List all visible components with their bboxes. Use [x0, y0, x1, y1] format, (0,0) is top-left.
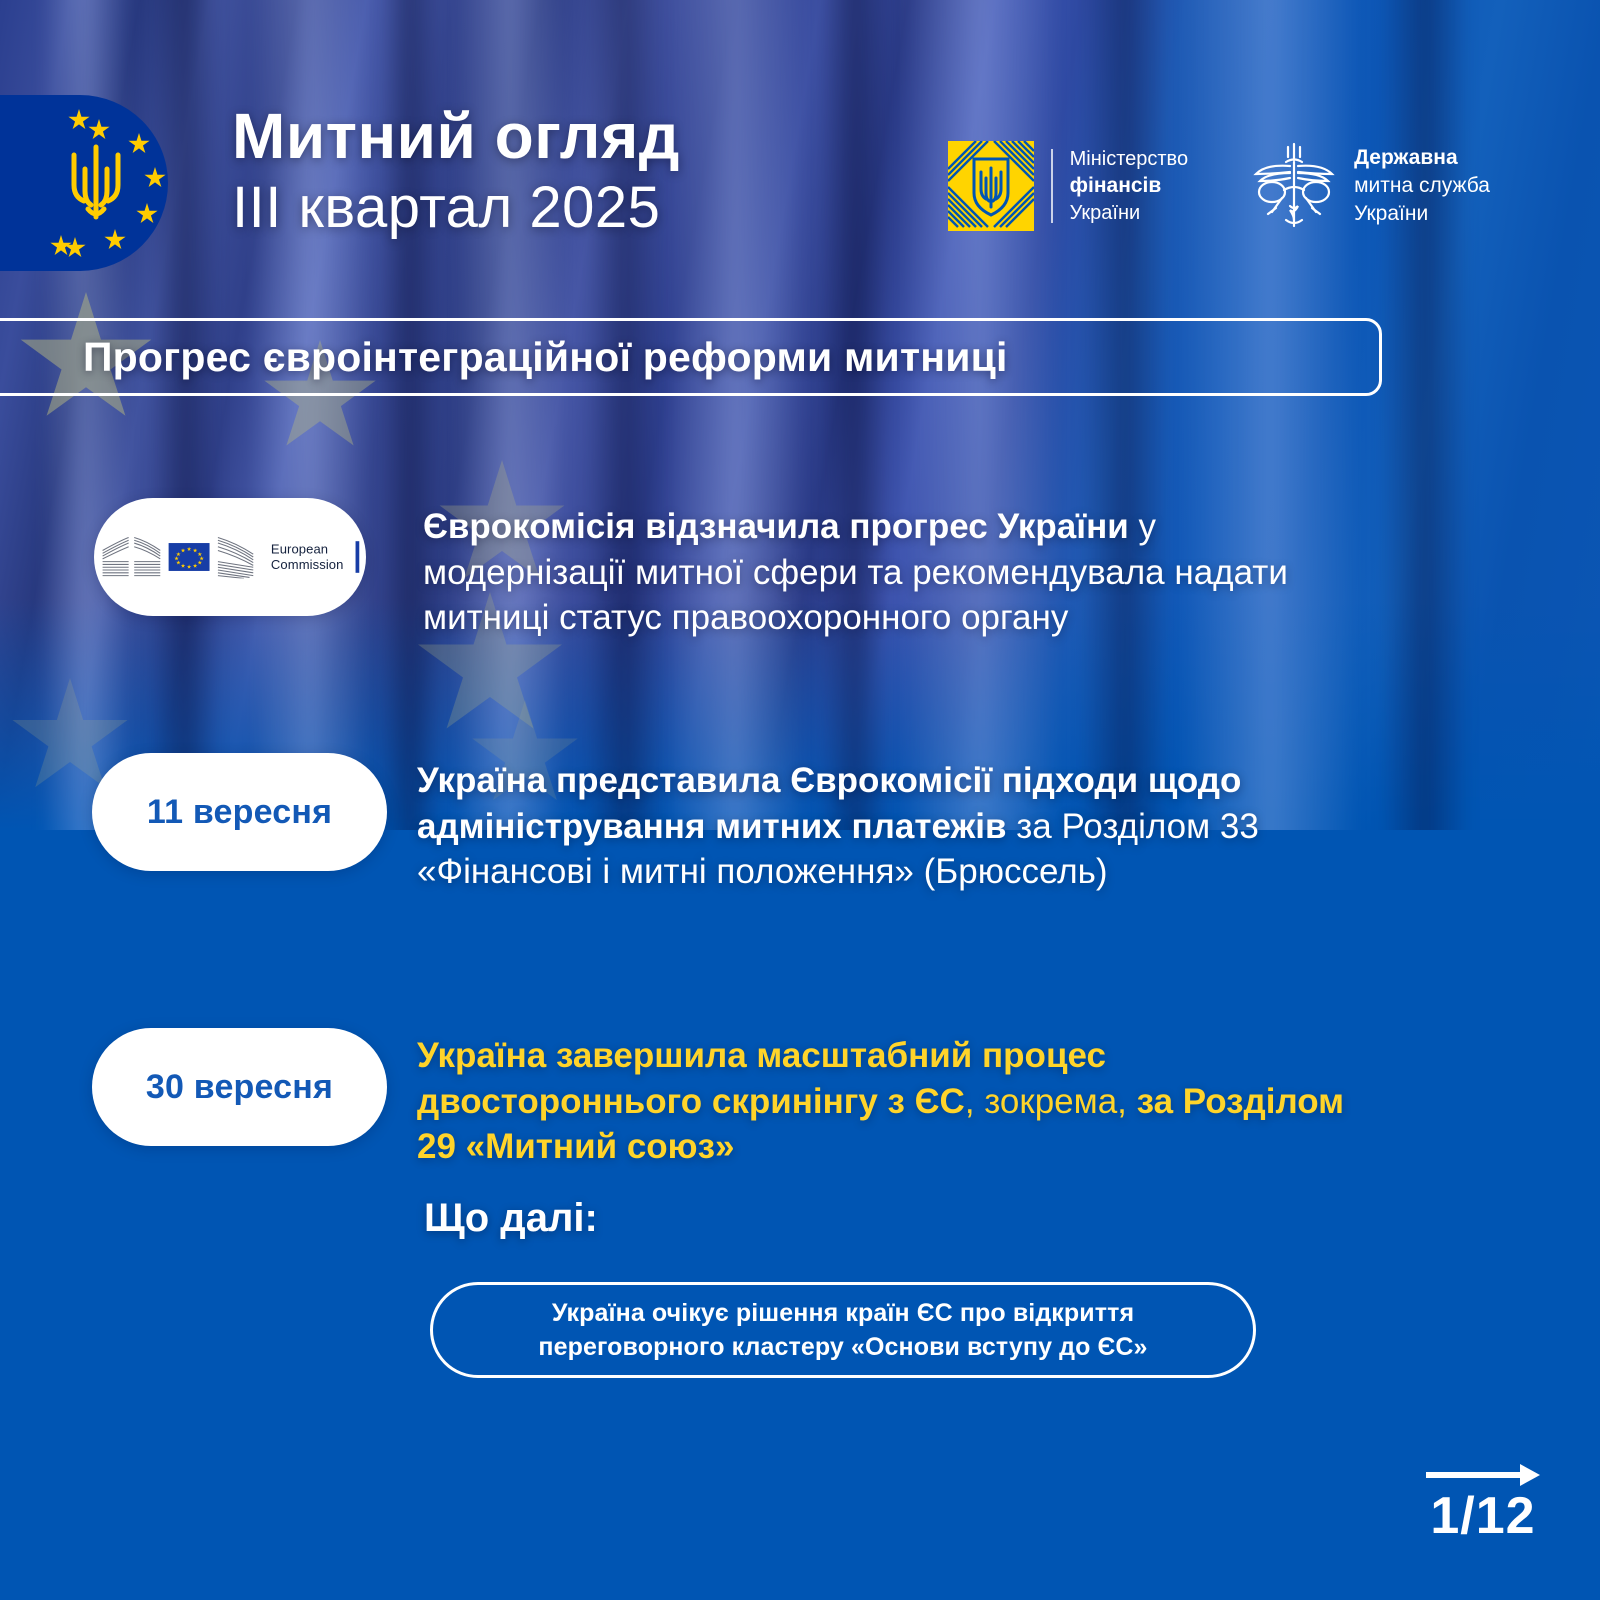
berlaymont-building-icon: [101, 536, 162, 579]
section-banner-label: Прогрес євроінтеграційної реформи митниц…: [83, 334, 1008, 381]
logo-divider: [1051, 149, 1053, 223]
date-badge: 30 вересня: [92, 1028, 387, 1146]
list-item: 30 вересня Україна завершила масштабний …: [92, 1028, 1412, 1170]
what-next-line-1: Україна очікує рішення країн ЄС про відк…: [538, 1296, 1147, 1330]
state-customs-service-label: Державна митна служба України: [1354, 144, 1490, 227]
date-badge: 11 вересня: [92, 753, 387, 871]
page-number: 1/12: [1424, 1490, 1542, 1542]
list-item: 11 вересня Україна представила Єврокоміс…: [92, 753, 1412, 895]
ec-word-line-1: European: [271, 541, 344, 557]
state-customs-service-emblem-icon: [1250, 140, 1338, 232]
ec-accent-bar: [356, 541, 360, 573]
section-banner: Прогрес євроінтеграційної реформи митниц…: [0, 318, 1382, 396]
ministry-of-finance-label: Міністерство фінансів України: [1070, 146, 1188, 225]
title-line-1: Митний огляд: [232, 104, 680, 168]
page-title: Митний огляд III квартал 2025: [232, 104, 680, 241]
european-commission-wordmark: European Commission: [271, 541, 344, 573]
title-line-2: III квартал 2025: [232, 176, 680, 241]
european-commission-logo: European Commission: [94, 498, 366, 616]
state-customs-service-logo: Державна митна служба України: [1250, 140, 1490, 232]
eu-flag-icon: [169, 543, 210, 571]
mof-line-3: України: [1070, 200, 1188, 226]
mof-line-2: фінансів: [1070, 174, 1162, 197]
list-item: European Commission Єврокомісія відзначи…: [94, 498, 1394, 641]
ec-word-line-2: Commission: [271, 557, 344, 573]
ministry-of-finance-logo: Міністерство фінансів України: [948, 141, 1188, 231]
what-next-box-text: Україна очікує рішення країн ЄС про відк…: [538, 1296, 1147, 1364]
list-item-text-rest: , зокрема,: [965, 1082, 1127, 1121]
ukraine-trident-icon: [64, 139, 128, 225]
cust-line-1: Державна: [1354, 146, 1458, 169]
list-item-text-bold: Єврокомісія відзначила прогрес України: [423, 507, 1129, 546]
list-item-text: Єврокомісія відзначила прогрес України у…: [423, 504, 1363, 641]
what-next-box: Україна очікує рішення країн ЄС про відк…: [430, 1282, 1256, 1378]
list-item-text: Україна завершила масштабний процес двос…: [417, 1033, 1347, 1170]
mof-line-1: Міністерство: [1070, 146, 1188, 172]
berlaymont-building-right-icon: [216, 536, 264, 579]
cust-line-2: митна служба: [1354, 172, 1490, 200]
what-next-line-2: переговорного кластеру «Основи вступу до…: [538, 1330, 1147, 1364]
list-item-text: Україна представила Єврокомісії підходи …: [417, 758, 1387, 895]
organization-logos: Міністерство фінансів України: [948, 140, 1490, 232]
cust-line-3: України: [1354, 200, 1490, 228]
what-next-title: Що далі:: [424, 1196, 598, 1241]
ministry-of-finance-emblem-icon: [948, 141, 1034, 231]
arrow-right-icon[interactable]: [1424, 1462, 1542, 1488]
eu-ukraine-emblem-icon: [0, 95, 168, 271]
page-indicator: 1/12: [1424, 1462, 1542, 1542]
